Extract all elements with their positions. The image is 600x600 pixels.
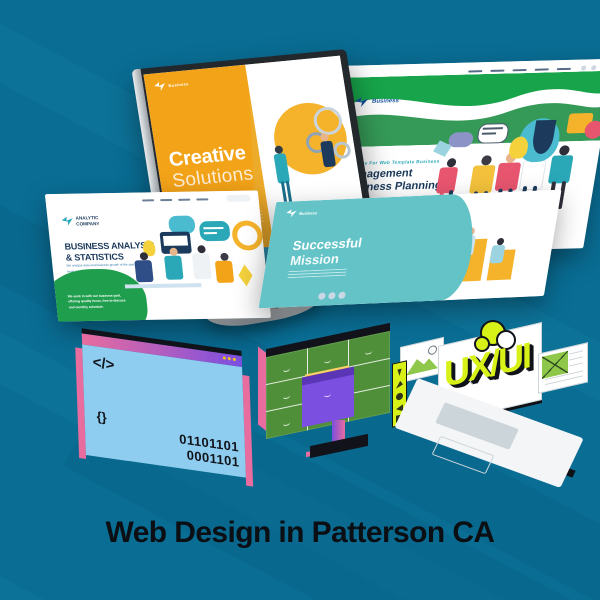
drawer-handle[interactable] <box>283 422 290 426</box>
uxui-laptop[interactable]: UX/UI <box>392 322 588 490</box>
monitor-logo-text: Business <box>168 81 189 88</box>
ban-logo-text: ANALYTIC COMPANY <box>75 215 99 226</box>
drawer-handle[interactable] <box>365 351 372 355</box>
gear-icon <box>305 131 329 154</box>
bird-mark-icon <box>154 81 166 91</box>
wireframe-card[interactable] <box>538 342 588 394</box>
drawer-handle[interactable] <box>324 393 331 397</box>
code-binary-text: 01101101 0001101 <box>179 431 240 471</box>
mission-logo: Business <box>286 208 318 217</box>
biz-logo-text: Business <box>371 98 399 105</box>
drawer-handle[interactable] <box>324 359 331 363</box>
page-title: Web Design in Patterson CA <box>0 516 600 550</box>
ban-navbar[interactable] <box>45 190 259 208</box>
drawer-handle[interactable] <box>283 395 290 399</box>
ban-heading: BUSINESS ANALYSIS & STATISTICS <box>64 240 156 264</box>
mission-logo-text: Business <box>299 210 318 216</box>
green-wave-secondary <box>331 81 600 148</box>
ban-search-pill[interactable] <box>226 195 251 202</box>
code-brace-icon: {} <box>96 408 107 425</box>
ban-body-text: We analyze data and business growth of t… <box>66 262 139 274</box>
mission-pagination[interactable] <box>318 292 346 300</box>
code-editor-window[interactable]: </> {} 01101101 0001101 <box>82 344 246 477</box>
yellow-blob <box>269 100 352 178</box>
drawer-handle[interactable] <box>283 368 290 372</box>
biz-logo: Business <box>354 96 400 107</box>
cabinet-grid <box>266 331 390 357</box>
bird-mark-icon <box>286 209 297 217</box>
cabinet-base-accent <box>306 440 364 457</box>
leaf-mark-icon <box>61 217 73 226</box>
file-cabinet-monitor[interactable] <box>258 336 390 436</box>
code-window-body: </> {} 01101101 0001101 <box>82 344 246 477</box>
ban-dot-row <box>68 277 86 281</box>
code-tag-icon: </> <box>92 354 114 374</box>
ban-logo: ANALYTIC COMPANY <box>61 215 99 227</box>
cabinet-base <box>310 434 368 458</box>
poster-canvas: Business Creative For Web Template Busin… <box>0 0 600 600</box>
successful-mission-screen[interactable]: Business Successful Mission <box>259 190 562 309</box>
mission-heading-2: Mission <box>289 251 340 268</box>
sun-icon <box>428 345 437 356</box>
window-controls[interactable] <box>223 356 236 361</box>
biz-navbar[interactable] <box>342 59 600 82</box>
business-analysis-screen[interactable]: ANALYTIC COMPANY BUSINESS ANALYSIS & STA… <box>45 190 271 321</box>
ban-blob-text: We work in with our business goal, offer… <box>67 293 131 311</box>
gear-icon <box>312 106 344 136</box>
gear-icon <box>332 141 352 159</box>
mission-heading-1: Successful <box>292 236 363 253</box>
bird-mark-icon <box>354 97 369 107</box>
